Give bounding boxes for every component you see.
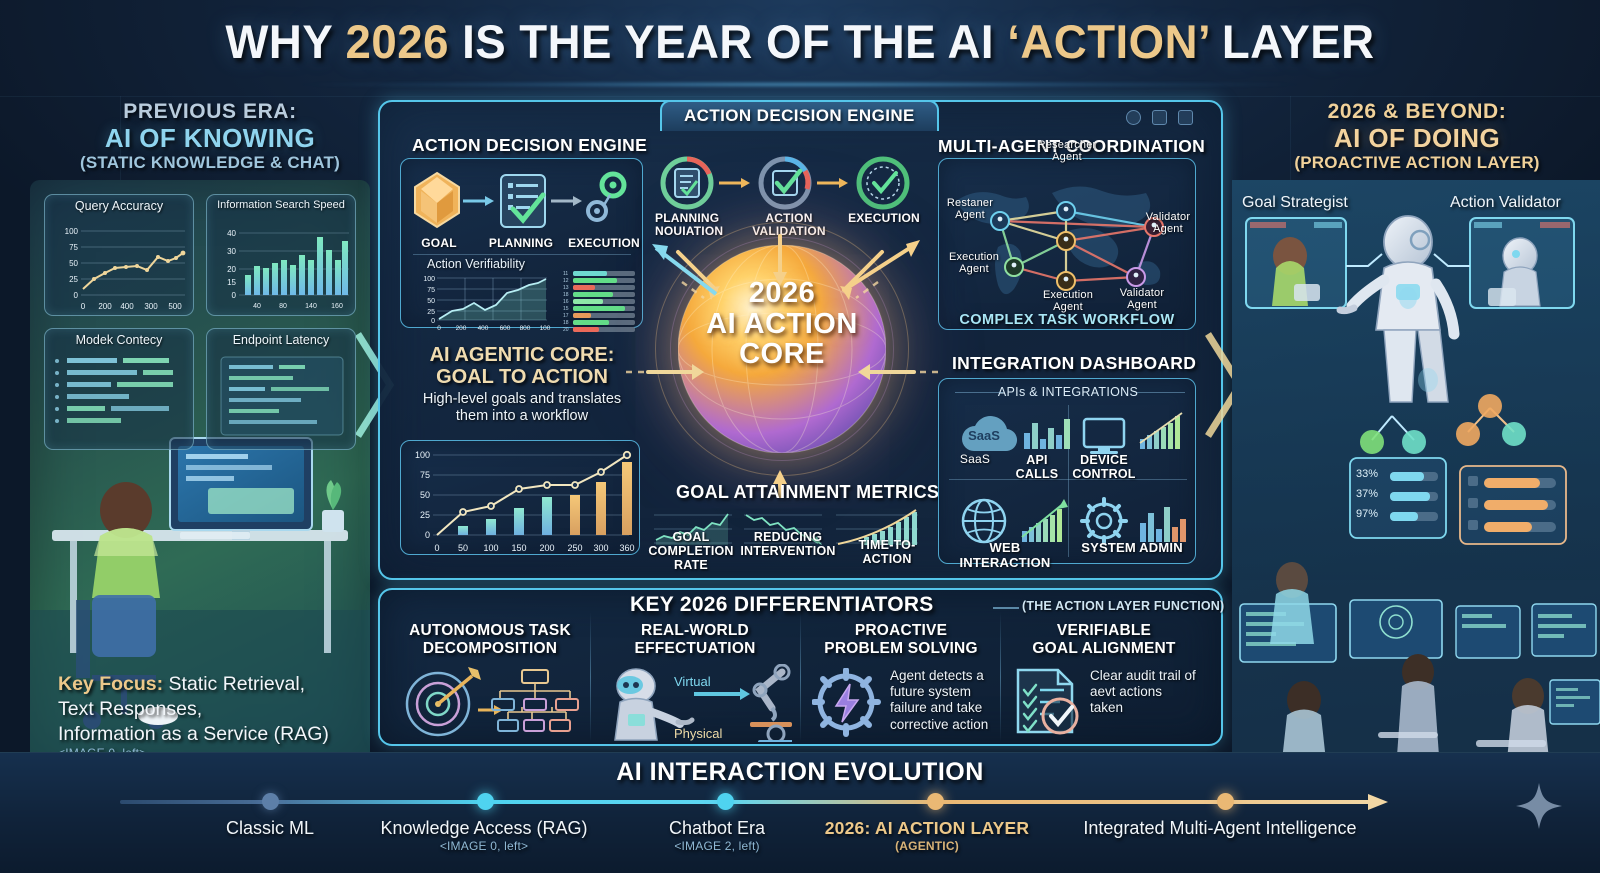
title-year: 2026 (346, 15, 449, 68)
title-mid: IS THE YEAR OF THE AI (449, 15, 1007, 68)
right-era-header: 2026 & BEYOND: AI OF DOING (PROACTIVE AC… (1252, 100, 1582, 172)
robot-arm-icon (750, 665, 792, 742)
timeline-label-2[interactable]: Chatbot Era <IMAGE 2, left) (624, 818, 810, 853)
key-focus-line3: Information as a Service (RAG) (58, 722, 378, 747)
left-header-line3: (STATIC KNOWLEDGE & CHAT) (60, 153, 360, 172)
mac-card: Researcher Agent Restaner Agent Validato… (938, 158, 1196, 330)
search-speed-chart: 403020 150 4080140160 (209, 217, 355, 313)
svg-text:SaaS: SaaS (968, 428, 1000, 443)
diff-title-3: PROACTIVEPROBLEM SOLVING (806, 622, 996, 658)
title-glow-line (300, 82, 1300, 87)
svg-text:150: 150 (511, 543, 526, 553)
audit-checklist-icon (1010, 666, 1082, 738)
execution-ring-icon (859, 159, 907, 207)
svg-text:0: 0 (74, 291, 79, 300)
center-tab-label[interactable]: ACTION DECISION ENGINE (660, 100, 939, 131)
infographic-root: WHY 2026 IS THE YEAR OF THE AI ‘ACTION’ … (0, 0, 1600, 873)
validation-ring-icon (761, 159, 809, 207)
timeline-segment-0 (120, 800, 270, 804)
ade-step-goal: GOAL (409, 237, 469, 250)
agentic-core-block: AI AGENTIC CORE: GOAL TO ACTION High-lev… (398, 344, 646, 424)
monitor-icon (1084, 419, 1124, 454)
agent-label-restaner: Restaner Agent (937, 197, 1003, 222)
timeline-dot-3[interactable] (927, 793, 944, 810)
svg-text:16: 16 (563, 299, 569, 305)
svg-text:160: 160 (331, 303, 343, 310)
title-action: ‘ACTION’ (1007, 15, 1208, 68)
svg-text:400: 400 (120, 302, 134, 311)
svg-text:25: 25 (69, 275, 78, 284)
differentiators-note: (THE ACTION LAYER FUNCTION) (1022, 599, 1224, 613)
planning-ring-icon (663, 159, 711, 207)
chart-title-model-context: Modek Contecy (45, 329, 193, 347)
right-scene-svg (1232, 180, 1600, 770)
api-calls-bar-chart-icon (1024, 419, 1070, 449)
device-trend-chart-icon (1140, 413, 1182, 449)
goal-gem-icon (415, 173, 459, 227)
timeline-dot-0[interactable] (262, 793, 279, 810)
svg-text:11: 11 (563, 271, 568, 277)
left-header-line1: PREVIOUS ERA: (60, 100, 360, 124)
proactive-gear-bolt-icon (812, 668, 884, 738)
timeline-label-3[interactable]: 2026: AI ACTION LAYER (AGENTIC) (814, 818, 1040, 853)
svg-text:20: 20 (227, 265, 236, 274)
bg-divider (0, 96, 1600, 97)
hud-percent-3: 97% (1356, 508, 1378, 520)
svg-text:75: 75 (427, 287, 435, 294)
diff-body-3: Agent detects a future system failure an… (890, 668, 1002, 733)
svg-text:40: 40 (253, 303, 261, 310)
svg-text:0: 0 (232, 291, 237, 300)
tile-label-web-interaction: WEB INTERACTION (943, 541, 1067, 570)
chart-card-model-context: Modek Contecy (44, 328, 194, 450)
maximize-icon[interactable] (1178, 110, 1193, 125)
saas-cloud-icon: SaaS (962, 416, 1017, 451)
timeline-segment-2 (485, 800, 725, 804)
svg-text:50: 50 (427, 298, 435, 305)
core-arrows (620, 230, 960, 520)
key-focus-line1: Static Retrieval, (163, 673, 305, 695)
right-header-line3: (PROACTIVE ACTION LAYER) (1252, 153, 1582, 172)
svg-text:250: 250 (567, 543, 582, 553)
web-trend-chart-icon (1022, 499, 1068, 542)
hud-percent-1: 33% (1356, 468, 1378, 480)
left-era-header: PREVIOUS ERA: AI OF KNOWING (STATIC KNOW… (60, 100, 360, 172)
tile-label-api-calls: APICALLS (1009, 453, 1065, 481)
svg-text:0: 0 (434, 543, 439, 553)
model-context-list (47, 351, 193, 443)
svg-text:140: 140 (305, 303, 317, 310)
chart-title-query-accuracy: Query Accuracy (45, 195, 193, 213)
hud-percent-2: 37% (1356, 488, 1378, 500)
gear-icon (1082, 499, 1126, 543)
agentic-combo-chart: 1007550 250 050100 150200250 300360 (401, 443, 637, 555)
svg-text:17: 17 (563, 313, 569, 319)
agentic-title-line2: GOAL TO ACTION (398, 366, 646, 388)
timeline-segment-5 (1225, 800, 1375, 804)
goal-metric-label-3: TIME-TO-ACTION (838, 538, 936, 566)
tile-label-saas: SaaS (945, 453, 1005, 466)
key-focus-line2: Text Responses, (58, 697, 378, 722)
timeline-dot-1[interactable] (477, 793, 494, 810)
svg-text:40: 40 (227, 229, 236, 238)
globe-icon (963, 500, 1005, 542)
pipeline-ring-icons (655, 155, 925, 213)
svg-text:13: 13 (563, 285, 569, 291)
svg-text:20: 20 (563, 327, 569, 333)
chart-card-search-speed: Information Search Speed 403020 150 4080… (206, 194, 356, 316)
svg-text:75: 75 (420, 470, 430, 480)
timeline-dot-4[interactable] (1217, 793, 1234, 810)
svg-text:100: 100 (415, 450, 430, 460)
svg-text:50: 50 (420, 490, 430, 500)
svg-text:100: 100 (423, 276, 435, 283)
ade-heading: ACTION DECISION ENGINE (412, 135, 647, 156)
tag-physical: Physical (674, 726, 723, 741)
timeline-segment-3 (725, 800, 935, 804)
tag-virtual: Virtual (674, 674, 711, 689)
svg-text:80: 80 (279, 303, 287, 310)
svg-text:100: 100 (540, 325, 551, 331)
chart-card-endpoint-latency: Endpoint Latency (206, 328, 356, 450)
timeline-segment-4 (935, 800, 1225, 804)
key-focus-label: Key Focus: (58, 673, 163, 695)
differentiators-heading: KEY 2026 DIFFERENTIATORS (630, 593, 934, 617)
right-header-line1: 2026 & BEYOND: (1252, 100, 1582, 124)
left-key-focus: Key Focus: Static Retrieval, Text Respon… (58, 672, 378, 761)
integration-card: APIs & INTEGRATIONS SaaS (938, 378, 1196, 564)
ade-card: GOAL PLANNING EXECUTION Action Verifiabi… (400, 158, 643, 328)
tile-label-device-control: DEVICECONTROL (1071, 453, 1137, 481)
svg-text:30: 30 (227, 247, 236, 256)
svg-text:25: 25 (420, 510, 430, 520)
chart-title-endpoint-latency: Endpoint Latency (207, 329, 355, 347)
svg-text:0: 0 (81, 302, 86, 311)
timeline-label-0[interactable]: Classic ML (182, 818, 358, 839)
pipeline-label-execution: EXECUTION (843, 212, 925, 225)
integration-heading: INTEGRATION DASHBOARD (952, 353, 1196, 374)
timeline-segment-1 (270, 800, 485, 804)
goal-metrics-heading: GOAL ATTAINMENT METRICS (676, 482, 939, 503)
svg-text:200: 200 (98, 302, 112, 311)
agent-label-validator-2: Validator Agent (1109, 287, 1175, 312)
diff-title-4: VERIFIABLEGOAL ALIGNMENT (1004, 622, 1204, 658)
svg-text:200: 200 (539, 543, 554, 553)
label-action-validator: Action Validator (1450, 194, 1561, 212)
svg-text:400: 400 (478, 325, 489, 331)
right-header-line2: AI OF DOING (1252, 124, 1582, 153)
timeline-arrow-head (1368, 789, 1394, 815)
svg-text:15: 15 (227, 278, 236, 287)
svg-text:50: 50 (69, 259, 78, 268)
agentic-sub-line2: them into a workflow (398, 408, 646, 425)
query-accuracy-chart: 1007550 250 0200400 300500 (47, 217, 193, 313)
agent-label-validator-1: Validator Agent (1137, 211, 1199, 236)
tile-label-system-admin: SYSTEM ADMIN (1071, 541, 1193, 556)
timeline-label-1[interactable]: Knowledge Access (RAG) <IMAGE 0, left> (358, 818, 610, 853)
timeline-label-4[interactable]: Integrated Multi-Agent Intelligence (1052, 818, 1388, 839)
svg-text:360: 360 (619, 543, 634, 553)
timeline-dot-2[interactable] (717, 793, 734, 810)
label-goal-strategist: Goal Strategist (1242, 194, 1348, 212)
svg-text:50: 50 (458, 543, 468, 553)
diff-body-4: Clear audit trail of aevt actions taken (1090, 668, 1198, 717)
chart-card-query-accuracy: Query Accuracy 1007550 250 0200400 30050… (44, 194, 194, 316)
execution-gear-icon (588, 174, 624, 220)
svg-text:600: 600 (500, 325, 511, 331)
timeline-title: AI INTERACTION EVOLUTION (0, 758, 1600, 787)
task-decomposition-icon (400, 666, 582, 740)
svg-text:0: 0 (431, 318, 435, 325)
agent-label-researcher: Researcher Agent (1025, 139, 1109, 164)
diff-title-1: AUTONOMOUS TASKDECOMPOSITION (392, 622, 588, 658)
svg-text:75: 75 (69, 243, 78, 252)
svg-text:300: 300 (144, 302, 158, 311)
refresh-icon[interactable] (1126, 110, 1141, 125)
agent-label-execution-2: Execution Agent (1035, 289, 1101, 314)
svg-text:18: 18 (563, 320, 569, 326)
restore-icon[interactable] (1152, 110, 1167, 125)
sysadmin-bar-chart-icon (1140, 507, 1186, 542)
svg-text:300: 300 (593, 543, 608, 553)
agentic-title-line1: AI AGENTIC CORE: (398, 344, 646, 366)
real-world-effectuation-icon: Virtual Physical (600, 664, 792, 742)
goal-metric-label-1: GOALCOMPLETION RATE (646, 530, 736, 572)
action-verifiability-chart: 1007550 250 0200400 600800100 (407, 273, 555, 331)
sparkle-icon (1516, 783, 1562, 829)
svg-text:15: 15 (563, 306, 569, 312)
svg-text:25: 25 (427, 309, 435, 316)
title-post: LAYER (1209, 15, 1375, 68)
page-title: WHY 2026 IS THE YEAR OF THE AI ‘ACTION’ … (0, 14, 1600, 69)
ade-step-planning: PLANNING (477, 237, 565, 250)
svg-text:18: 18 (563, 292, 569, 298)
svg-text:12: 12 (563, 278, 569, 284)
future-era-illustration: Goal Strategist Action Validator 33% 37%… (1232, 180, 1600, 770)
endpoint-latency-panel (209, 351, 355, 443)
svg-text:800: 800 (520, 325, 531, 331)
chart-title-search-speed: Information Search Speed (207, 195, 355, 211)
diff-title-2: REAL-WORLDEFFECTUATION (600, 622, 790, 658)
ade-flow-icons (401, 163, 641, 241)
title-pre: WHY (225, 15, 345, 68)
svg-text:100: 100 (65, 227, 79, 236)
svg-text:500: 500 (168, 302, 182, 311)
action-verifiability-title: Action Verifiability (427, 257, 525, 271)
agentic-chart-card: 1007550 250 050100 150200250 300360 (400, 440, 640, 555)
planning-clipboard-icon (501, 175, 545, 227)
agentic-sub-line1: High-level goals and translates (398, 391, 646, 408)
mac-footer: COMPLEX TASK WORKFLOW (938, 312, 1196, 328)
svg-text:0: 0 (425, 530, 430, 540)
goal-metric-label-2: REDUCINGINTERVENTION (740, 530, 836, 558)
svg-text:200: 200 (456, 325, 467, 331)
left-header-line2: AI OF KNOWING (60, 124, 360, 153)
svg-text:100: 100 (483, 543, 498, 553)
svg-text:0: 0 (437, 325, 441, 331)
